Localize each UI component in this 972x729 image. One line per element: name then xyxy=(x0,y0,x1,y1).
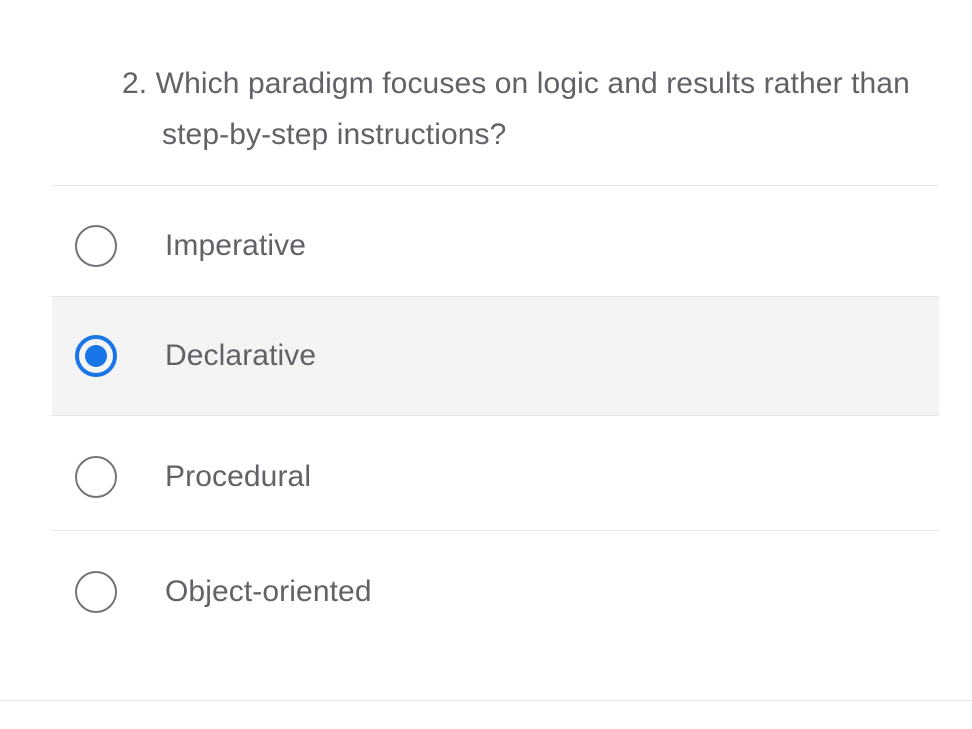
option-label-declarative: Declarative xyxy=(165,338,316,374)
question-text: 2. Which paradigm focuses on logic and r… xyxy=(122,58,912,160)
option-row-object-oriented[interactable]: Object-oriented xyxy=(52,532,939,652)
radio-unchecked-icon[interactable] xyxy=(75,571,117,613)
radio-unchecked-icon[interactable] xyxy=(75,456,117,498)
quiz-question-card: 2. Which paradigm focuses on logic and r… xyxy=(0,0,972,729)
option-label-object-oriented: Object-oriented xyxy=(165,574,372,610)
option-label-procedural: Procedural xyxy=(165,459,311,495)
divider-below-procedural xyxy=(52,530,939,531)
radio-checked-icon[interactable] xyxy=(75,335,117,377)
option-label-imperative: Imperative xyxy=(165,228,306,264)
footer-divider xyxy=(0,700,972,701)
radio-unchecked-icon[interactable] xyxy=(75,225,117,267)
option-row-imperative[interactable]: Imperative xyxy=(52,186,939,306)
option-row-declarative[interactable]: Declarative xyxy=(52,296,939,416)
option-row-procedural[interactable]: Procedural xyxy=(52,417,939,537)
question-block: 2. Which paradigm focuses on logic and r… xyxy=(122,58,912,160)
